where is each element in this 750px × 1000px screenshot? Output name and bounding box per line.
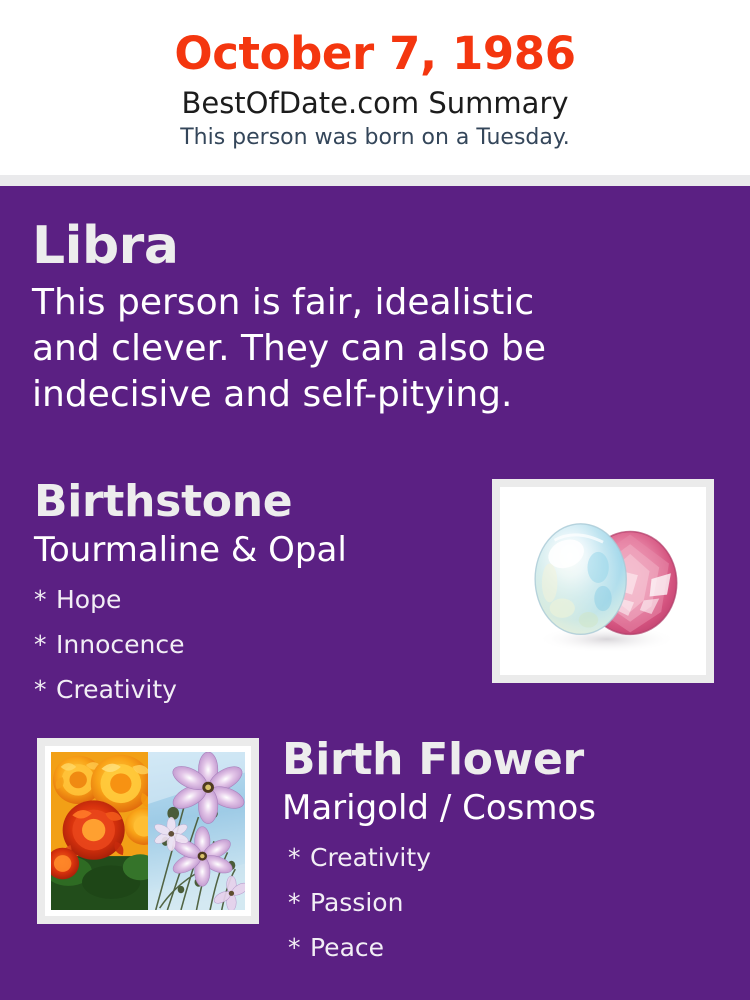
flowers-illustration — [51, 752, 245, 910]
zodiac-section: Libra This person is fair, idealistic an… — [32, 216, 632, 418]
birth-flower-photo-frame — [37, 738, 259, 924]
birth-flower-names: Marigold / Cosmos — [282, 786, 732, 829]
asterisk-bullet-icon: * — [288, 880, 310, 925]
birthstone-trait-label: Creativity — [56, 675, 177, 704]
asterisk-bullet-icon: * — [288, 925, 310, 970]
birthstone-names: Tourmaline & Opal — [34, 528, 474, 571]
zodiac-description: This person is fair, idealistic and clev… — [32, 276, 612, 418]
birth-flower-heading: Birth Flower — [282, 734, 732, 786]
list-item: *Hope — [34, 577, 474, 622]
content-panel: Libra This person is fair, idealistic an… — [0, 186, 750, 1000]
birth-flower-photo — [51, 752, 245, 910]
list-item: *Innocence — [34, 622, 474, 667]
list-item: *Peace — [288, 925, 732, 970]
header: October 7, 1986 BestOfDate.com Summary T… — [0, 0, 750, 175]
zodiac-sign-title: Libra — [32, 216, 632, 276]
birth-flower-trait-label: Passion — [310, 888, 403, 917]
asterisk-bullet-icon: * — [34, 667, 56, 712]
asterisk-bullet-icon: * — [34, 622, 56, 667]
birth-flower-trait-label: Peace — [310, 933, 384, 962]
list-item: *Creativity — [34, 667, 474, 712]
birthstone-photo — [506, 493, 700, 669]
birth-flower-trait-label: Creativity — [310, 843, 431, 872]
birthstone-section: Birthstone Tourmaline & Opal *Hope *Inno… — [34, 476, 474, 712]
birthstone-heading: Birthstone — [34, 476, 474, 528]
asterisk-bullet-icon: * — [288, 835, 310, 880]
infographic-page: October 7, 1986 BestOfDate.com Summary T… — [0, 0, 750, 1000]
birthstone-trait-label: Hope — [56, 585, 121, 614]
page-title-date: October 7, 1986 — [0, 0, 750, 82]
birth-flower-trait-list: *Creativity *Passion *Peace — [282, 829, 732, 970]
header-divider — [0, 175, 750, 186]
list-item: *Passion — [288, 880, 732, 925]
list-item: *Creativity — [288, 835, 732, 880]
site-summary-label: BestOfDate.com Summary — [0, 82, 750, 121]
birthstone-photo-frame — [492, 479, 714, 683]
birthstone-trait-list: *Hope *Innocence *Creativity — [34, 571, 474, 712]
born-weekday-text: This person was born on a Tuesday. — [0, 121, 750, 152]
birthstone-trait-label: Innocence — [56, 630, 184, 659]
asterisk-bullet-icon: * — [34, 577, 56, 622]
gemstone-illustration — [506, 493, 700, 669]
birth-flower-section: Birth Flower Marigold / Cosmos *Creativi… — [282, 734, 732, 970]
